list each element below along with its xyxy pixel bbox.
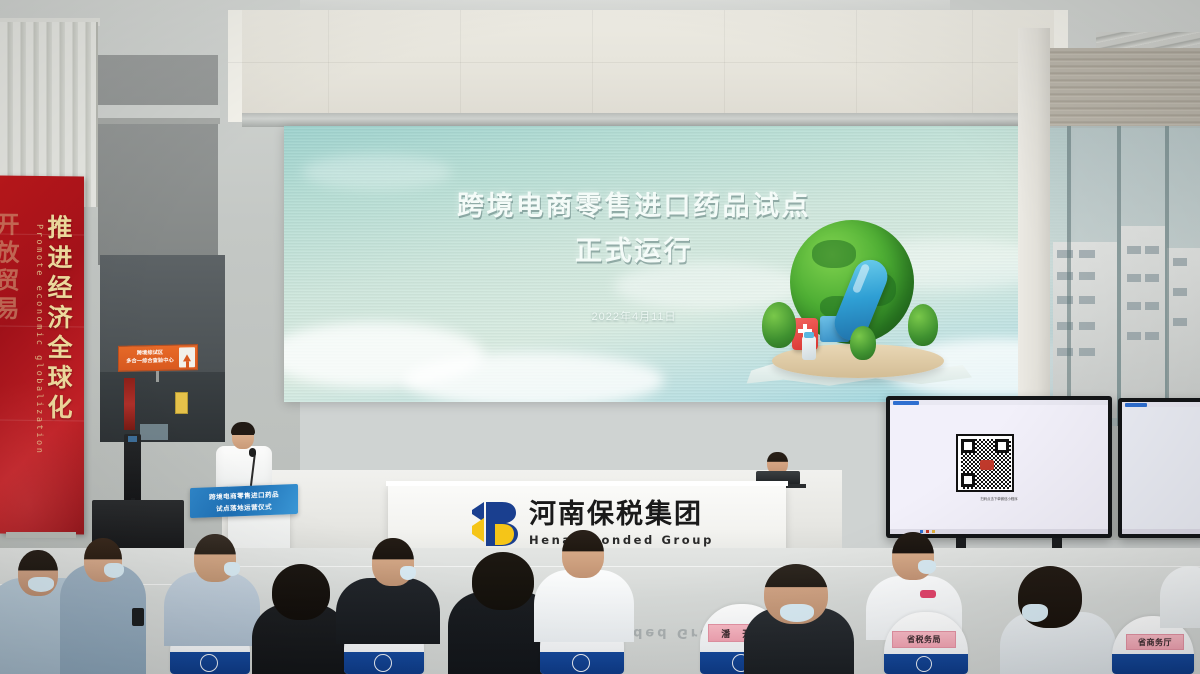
led-title-line1: 跨境电商零售进口药品试点 xyxy=(324,184,944,229)
recess-beam xyxy=(98,105,220,119)
audience-torso xyxy=(534,570,634,642)
pill-bottle-icon xyxy=(802,336,816,360)
red-rollup-banner: 开放贸易 Promote economic globalization 推进经济… xyxy=(0,176,84,535)
banner-secondary-text: 开放贸易 xyxy=(0,211,22,323)
led-screen-date: 2022年4月11日 xyxy=(324,308,944,324)
microphone-icon xyxy=(249,448,256,457)
yellow-warning-label xyxy=(175,392,188,414)
banner-stand xyxy=(6,532,76,538)
primary-touch-display[interactable]: 扫码点击下单微信小程序 xyxy=(886,396,1112,538)
secondary-touch-display[interactable] xyxy=(1118,398,1200,538)
logo-english-name: Henan Bonded Group xyxy=(529,533,714,547)
sign-post xyxy=(156,370,159,382)
right-column xyxy=(1018,28,1050,428)
led-screen-title: 跨境电商零售进口药品试点 正式运行 xyxy=(324,184,944,275)
chair-ring xyxy=(572,654,590,672)
face-mask xyxy=(1022,604,1048,622)
podium-sign-line1: 跨境电商零售进口药品 xyxy=(209,489,279,502)
wayfinding-sign: 跨境综试区 多合一综合查验中心 xyxy=(118,344,198,372)
face-mask xyxy=(224,562,240,576)
conference-hall-photo: 跨境综试区 多合一综合查验中心 开放贸易 Promote economic gl… xyxy=(0,0,1200,674)
podium-event-sign: 跨境电商零售进口药品 试点落地运营仪式 xyxy=(190,484,298,518)
header-wall-panel xyxy=(228,10,1068,122)
audience-head xyxy=(472,552,534,610)
wayfinding-line2: 多合一综合查验中心 xyxy=(126,358,174,367)
speaker-hair xyxy=(231,422,255,435)
chair-ring xyxy=(200,654,218,672)
tree-icon xyxy=(850,326,876,360)
podium-sign-line2: 试点落地运营仪式 xyxy=(216,501,272,513)
secondary-display-screen[interactable] xyxy=(1122,402,1200,534)
smartphone xyxy=(132,608,144,626)
chair-ring xyxy=(374,654,392,672)
face-mask xyxy=(104,563,124,578)
face-mask xyxy=(400,566,416,580)
primary-display-screen[interactable]: 扫码点击下单微信小程序 xyxy=(890,400,1108,534)
qr-code xyxy=(956,434,1014,492)
face-mask xyxy=(918,560,936,574)
qr-caption: 扫码点击下单微信小程序 xyxy=(890,496,1108,501)
audience-head xyxy=(562,530,604,578)
logo-chinese-name: 河南保税集团 xyxy=(529,501,714,528)
soffit-slats xyxy=(1045,48,1200,128)
desk-top-edge xyxy=(386,481,788,486)
name-placard: 省商务厅 xyxy=(1126,634,1184,650)
audience-torso xyxy=(164,572,260,646)
led-presentation-screen: 跨境电商零售进口药品试点 正式运行 2022年4月11日 xyxy=(284,126,1067,402)
chair-sash xyxy=(1112,654,1194,674)
glass-curtain-wall xyxy=(1045,126,1200,426)
audience-head xyxy=(272,564,330,620)
hair-accessory xyxy=(920,590,936,598)
red-vertical-strip xyxy=(124,378,135,430)
chair-ring xyxy=(916,656,932,672)
face-mask xyxy=(28,577,54,592)
door-glass-panel xyxy=(140,424,168,440)
arrow-up-icon xyxy=(179,347,195,367)
face-mask xyxy=(780,604,814,622)
pa-speaker-indicator xyxy=(128,436,137,442)
led-title-line2: 正式运行 xyxy=(324,229,944,274)
left-recess xyxy=(98,55,218,265)
pa-speaker-top xyxy=(124,434,141,504)
header-wall-seam xyxy=(228,62,1068,63)
name-placard: 省税务局 xyxy=(892,631,956,648)
recess-beam-shadow xyxy=(98,118,220,124)
audience-torso xyxy=(336,578,440,644)
screen-valance xyxy=(242,113,1054,127)
bonded-group-logo-icon xyxy=(468,498,520,550)
banner-headline: 推进经济全球化 xyxy=(40,214,76,424)
